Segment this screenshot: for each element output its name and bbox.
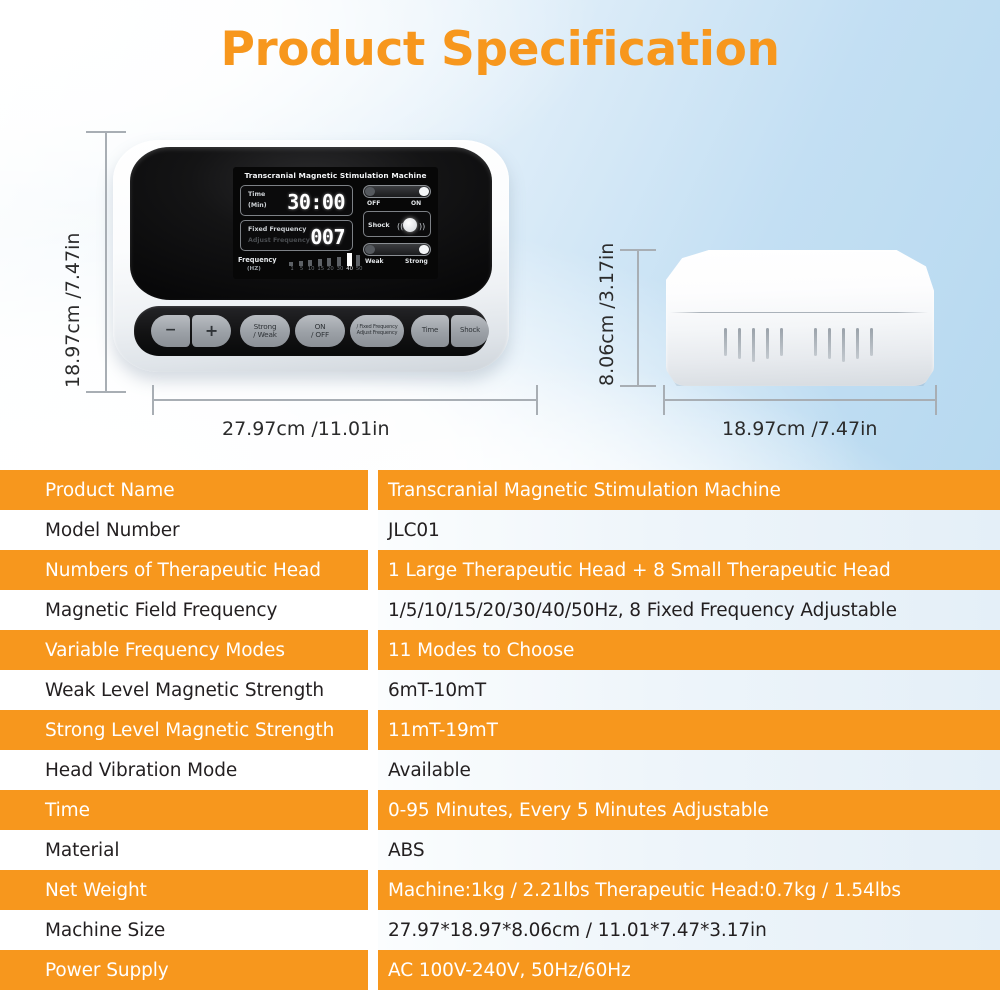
plus-button[interactable]: + [192,315,231,347]
dimension-main-height-label: 18.97cm /7.47in [62,233,84,388]
table-row: Product NameTranscranial Magnetic Stimul… [0,470,1000,510]
lcd-frequency-unit: (HZ) [247,266,261,272]
table-cell-value: ABS [378,830,1000,870]
table-cell-value: 1 Large Therapeutic Head + 8 Small Thera… [378,550,1000,590]
table-cell-label: Material [0,830,368,870]
spec-value: Available [388,760,471,781]
table-cell-label: Strong Level Magnetic Strength [0,710,368,750]
frequency-tick-20: 20 [326,266,335,272]
table-row: MaterialABS [0,830,1000,870]
lcd-time-unit: (Min) [248,202,267,209]
table-cell-value: 11mT-19mT [378,710,1000,750]
table-cell-value: Available [378,750,1000,790]
lcd-strong-label: Strong [405,258,428,265]
lcd-fixed-frequency-label: Fixed Frequency [248,226,306,233]
device-main-view: Transcranial Magnetic Stimulation Machin… [113,140,509,372]
table-row: Power SupplyAC 100V-240V, 50Hz/60Hz [0,950,1000,990]
table-row: Magnetic Field Frequency1/5/10/15/20/30/… [0,590,1000,630]
table-cell-label: Machine Size [0,910,368,950]
spec-value: ABS [388,840,424,861]
table-cell-value: Transcranial Magnetic Stimulation Machin… [378,470,1000,510]
spec-value: 1 Large Therapeutic Head + 8 Small Thera… [388,560,891,581]
table-row: Time0-95 Minutes, Every 5 Minutes Adjust… [0,790,1000,830]
lcd-adjust-frequency-label: Adjust Frequency [248,237,310,244]
lcd-weak-label: Weak [365,258,384,265]
table-row: Weak Level Magnetic Strength6mT-10mT [0,670,1000,710]
spec-label: Product Name [45,480,175,501]
spec-label: Strong Level Magnetic Strength [45,720,334,741]
table-cell-label: Numbers of Therapeutic Head [0,550,368,590]
vent-slot [780,328,783,356]
on-off-line2: / OFF [311,330,329,339]
spec-value: 0-95 Minutes, Every 5 Minutes Adjustable [388,800,769,821]
table-cell-label: Time [0,790,368,830]
spec-value: Transcranial Magnetic Stimulation Machin… [388,480,781,501]
spec-label: Time [45,800,90,821]
frequency-tick-5: 5 [297,266,306,272]
vent-slot [814,328,817,356]
table-cell-label: Power Supply [0,950,368,990]
table-cell-value: 6mT-10mT [378,670,1000,710]
table-row: Strong Level Magnetic Strength11mT-19mT [0,710,1000,750]
table-row: Numbers of Therapeutic Head1 Large Thera… [0,550,1000,590]
page-title: Product Specification [0,22,1000,77]
vent-slot [870,328,873,356]
table-row: Variable Frequency Modes11 Modes to Choo… [0,630,1000,670]
vent-slot [766,328,769,359]
frequency-bar-group: 15101520304050 [289,254,368,276]
spec-value: Machine:1kg / 2.21lbs Therapeutic Head:0… [388,880,901,901]
frequency-tick-40: 40 [345,266,354,272]
table-cell-value: Machine:1kg / 2.21lbs Therapeutic Head:0… [378,870,1000,910]
device-button-bar: − + Strong / Weak ON / OFF / Fixed Frequ… [134,306,488,356]
shock-wave-left-icon: (( [397,222,403,231]
table-cell-label: Net Weight [0,870,368,910]
frequency-tick-50: 50 [355,266,364,272]
vent-slot [828,328,831,359]
frequency-bar-30 [337,257,341,266]
vent-slot [724,328,727,356]
shock-button[interactable]: Shock [451,315,489,347]
table-cell-label: Variable Frequency Modes [0,630,368,670]
lcd-frequency-value: 007 [310,227,345,247]
device-side-view [666,250,934,386]
frequency-bar-20 [327,258,331,266]
on-off-button[interactable]: ON / OFF [295,315,345,347]
lcd-frequency-scale: Frequency (HZ) 15101520304050 [238,254,368,276]
spec-value: AC 100V-240V, 50Hz/60Hz [388,960,631,981]
table-cell-label: Head Vibration Mode [0,750,368,790]
table-row: Net WeightMachine:1kg / 2.21lbs Therapeu… [0,870,1000,910]
device-top-panel: Transcranial Magnetic Stimulation Machin… [130,147,492,300]
table-cell-value: AC 100V-240V, 50Hz/60Hz [378,950,1000,990]
table-cell-value: JLC01 [378,510,1000,550]
bracket-main-height [86,131,126,393]
spec-value: 1/5/10/15/20/30/40/50Hz, 8 Fixed Frequen… [388,600,897,621]
table-row: Head Vibration ModeAvailable [0,750,1000,790]
frequency-bar-15 [318,259,322,266]
device-side-housing [666,250,934,386]
table-cell-label: Model Number [0,510,368,550]
spec-value: 11mT-19mT [388,720,498,741]
device-side-seam [670,312,928,313]
table-cell-value: 11 Modes to Choose [378,630,1000,670]
spec-label: Magnetic Field Frequency [45,600,277,621]
frequency-tick-30: 30 [336,266,345,272]
time-button[interactable]: Time [411,315,449,347]
bracket-side-height [620,249,656,387]
spec-value: JLC01 [388,520,440,541]
frequency-button[interactable]: / Fixed Frequency Adjust Frequency [350,315,404,347]
spec-label: Weak Level Magnetic Strength [45,680,324,701]
lcd-shock-label: Shock [368,221,390,229]
strong-weak-line2: / Weak [253,330,277,339]
lcd-time-box: Time (Min) 30:00 [240,185,353,216]
spec-label: Variable Frequency Modes [45,640,285,661]
lcd-time-value: 30:00 [287,192,345,212]
spec-label: Net Weight [45,880,147,901]
lcd-frequency-box: Fixed Frequency Adjust Frequency 007 [240,220,353,251]
table-cell-label: Weak Level Magnetic Strength [0,670,368,710]
frequency-tick-15: 15 [316,266,325,272]
frequency-tick-1: 1 [288,266,297,272]
shock-wave-right-icon: )) [419,222,425,231]
vent-slot [856,328,859,359]
dimension-main-width-label: 27.97cm /11.01in [222,418,390,440]
shock-indicator-icon [403,218,417,232]
lcd-shock-box: Shock (( )) [363,211,431,237]
table-cell-label: Magnetic Field Frequency [0,590,368,630]
frequency-line2: Adjust Frequency [357,330,398,336]
frequency-tick-10: 10 [307,266,316,272]
table-row: Machine Size27.97*18.97*8.06cm / 11.01*7… [0,910,1000,950]
dimension-side-width-label: 18.97cm /7.47in [722,418,877,440]
lcd-screen: Transcranial Magnetic Stimulation Machin… [233,167,438,279]
frequency-bar-50 [356,255,360,266]
spec-label: Machine Size [45,920,165,941]
spec-label: Numbers of Therapeutic Head [45,560,321,581]
table-cell-label: Product Name [0,470,368,510]
bracket-main-width [152,385,538,415]
vent-slot [842,328,845,362]
vent-slot [738,328,741,359]
minus-button[interactable]: − [151,315,190,347]
spec-value: 6mT-10mT [388,680,486,701]
spec-label: Power Supply [45,960,169,981]
vent-slot [752,328,755,362]
frequency-bar-40 [347,253,352,266]
specification-table: Product NameTranscranial Magnetic Stimul… [0,470,1000,990]
strong-weak-button[interactable]: Strong / Weak [240,315,290,347]
lcd-on-label: ON [411,200,421,207]
lcd-title: Transcranial Magnetic Stimulation Machin… [233,171,438,180]
spec-value: 11 Modes to Choose [388,640,574,661]
dimension-side-height-label: 8.06cm /3.17in [596,243,618,386]
bracket-side-width [663,385,937,415]
table-cell-value: 1/5/10/15/20/30/40/50Hz, 8 Fixed Frequen… [378,590,1000,630]
lcd-frequency-caption: Frequency [238,256,277,264]
spec-label: Model Number [45,520,180,541]
spec-label: Head Vibration Mode [45,760,237,781]
lcd-intensity-toggle [363,243,431,256]
table-cell-value: 0-95 Minutes, Every 5 Minutes Adjustable [378,790,1000,830]
table-cell-value: 27.97*18.97*8.06cm / 11.01*7.47*3.17in [378,910,1000,950]
lcd-off-label: OFF [367,200,380,207]
spec-value: 27.97*18.97*8.06cm / 11.01*7.47*3.17in [388,920,767,941]
table-row: Model NumberJLC01 [0,510,1000,550]
lcd-time-label: Time [248,191,265,198]
lcd-power-toggle [363,185,431,198]
spec-label: Material [45,840,119,861]
